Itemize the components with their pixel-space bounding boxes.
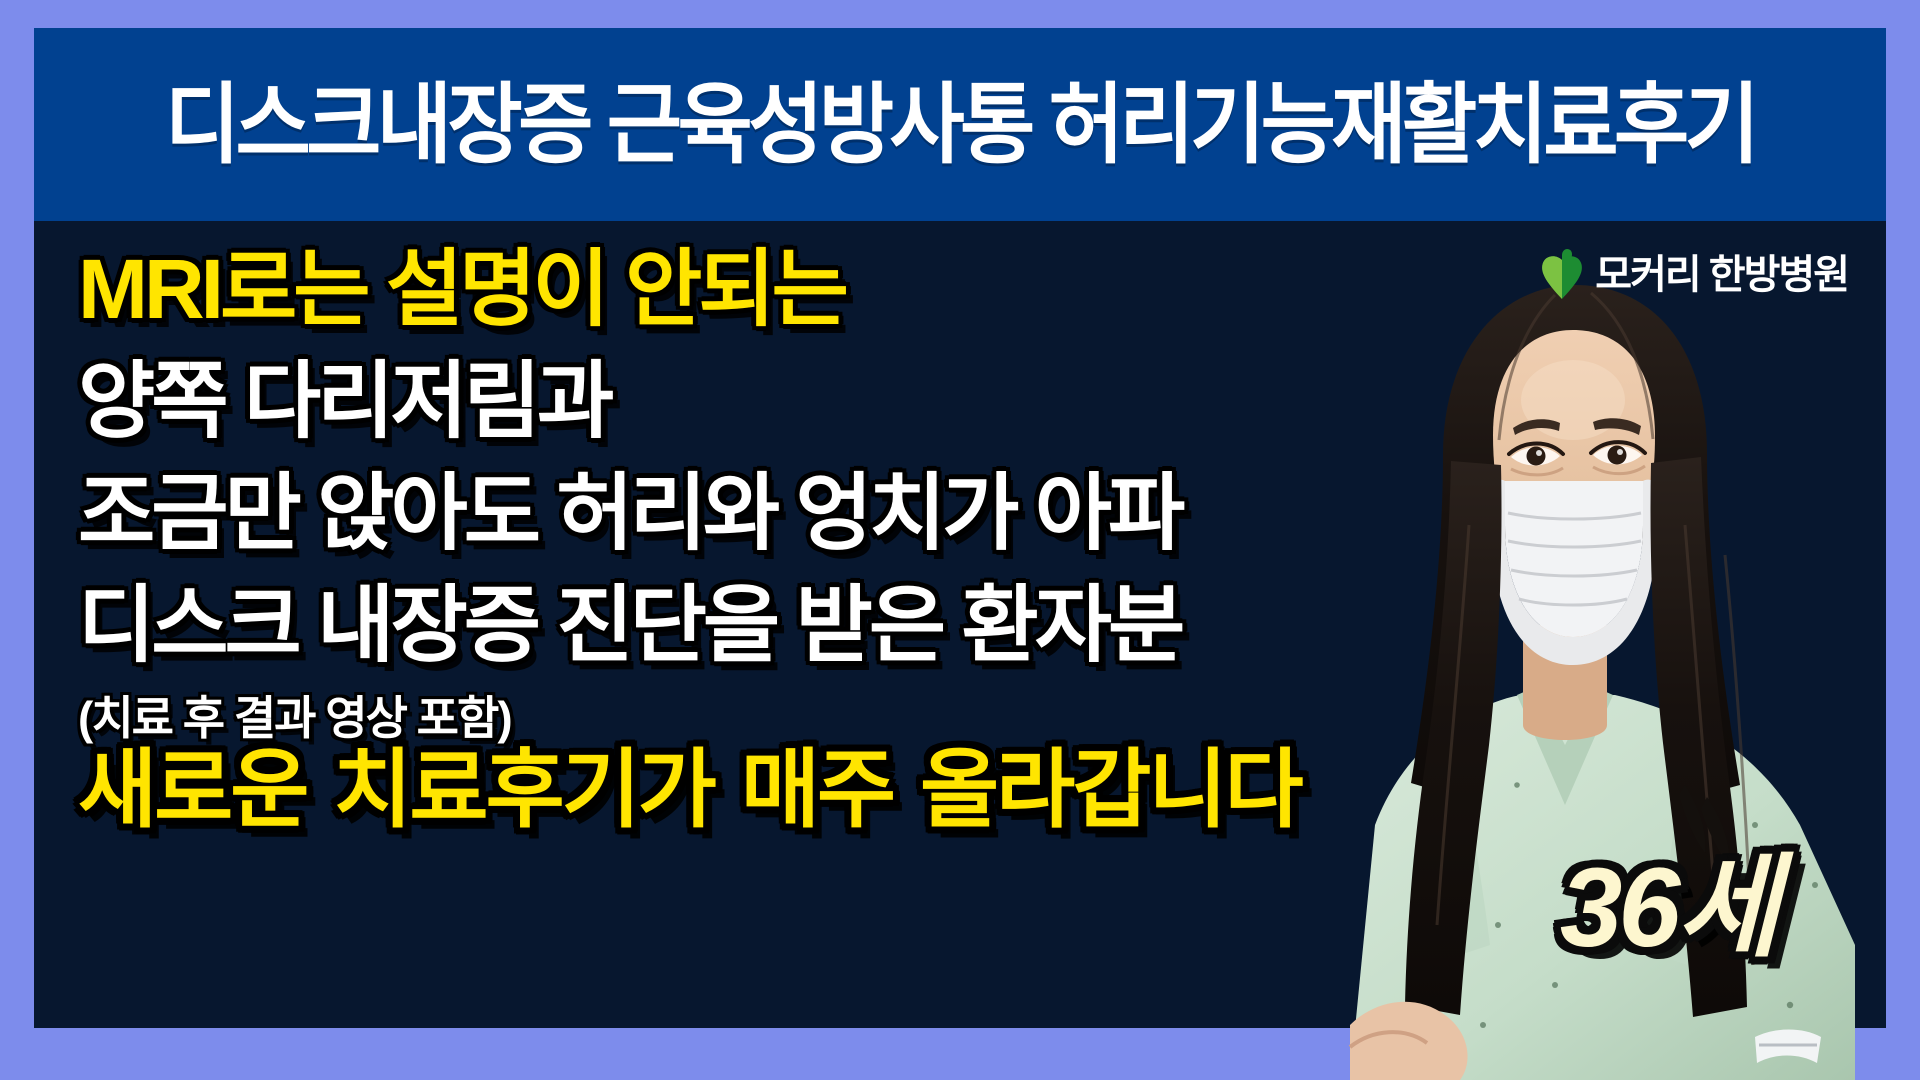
hospital-logo: 모커리 한방병원 bbox=[1541, 249, 1848, 301]
hospital-logo-label: 모커리 한방병원 bbox=[1595, 255, 1848, 295]
headline-block: MRI로는 설명이 안되는 양쪽 다리저림과 조금만 앉아도 허리와 엉치가 아… bbox=[78, 247, 1578, 833]
headline-note: (치료 후 결과 영상 포함) bbox=[78, 695, 1578, 741]
green-heart-leaf-icon bbox=[1541, 249, 1583, 301]
headline-line-3: 조금만 앉아도 허리와 엉치가 아파 bbox=[78, 471, 1578, 555]
page-title: 디스크내장증 근육성방사통 허리기능재활치료후기 bbox=[165, 81, 1755, 169]
title-bar: 디스크내장증 근육성방사통 허리기능재활치료후기 bbox=[34, 28, 1886, 221]
headline-line-1: MRI로는 설명이 안되는 bbox=[78, 247, 1578, 331]
thumbnail-root: 디스크내장증 근육성방사통 허리기능재활치료후기 모커리 한방병원 MRI로는 … bbox=[0, 0, 1920, 1080]
headline-footer: 새로운 치료후기가 매주 올라갑니다 bbox=[78, 747, 1578, 833]
age-badge: 36세 bbox=[1560, 852, 1776, 964]
headline-line-2: 양쪽 다리저림과 bbox=[78, 359, 1578, 443]
headline-line-4: 디스크 내장증 진단을 받은 환자분 bbox=[78, 583, 1578, 667]
